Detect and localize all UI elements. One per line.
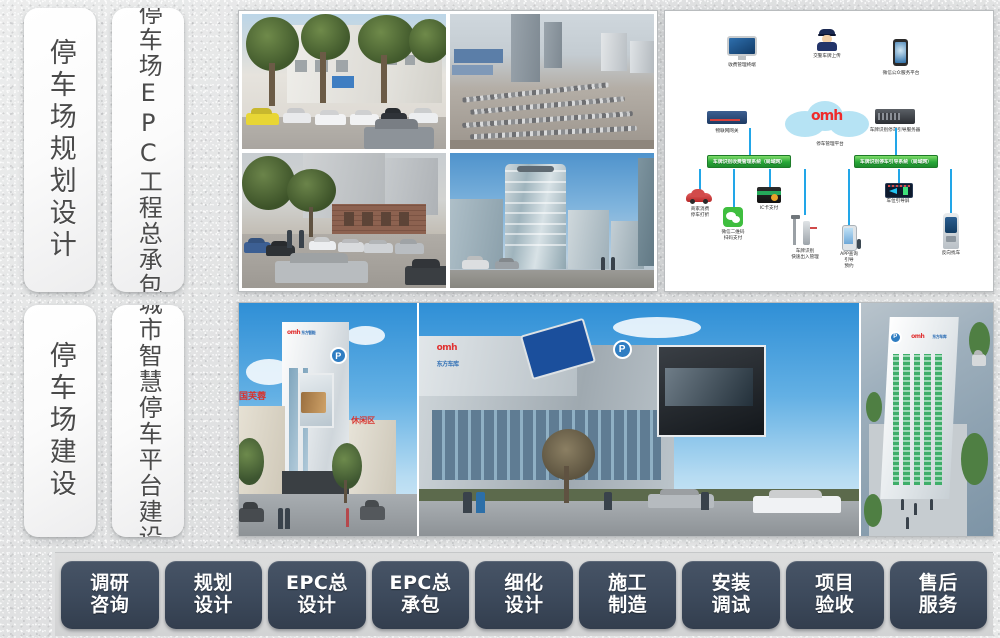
omh-logo: omh: [811, 108, 842, 124]
project-photo-gallery: [238, 10, 658, 292]
sidebar-card-label: 停车场建设: [46, 341, 74, 501]
diagram-label-reverse-car-finding: 反向找车: [942, 251, 960, 257]
diagram-label-wechat-platform: 微信公众服务平台: [883, 71, 920, 77]
rendering-sign-left: 国芙蓉: [239, 389, 266, 402]
process-step-construction-manufacturing[interactable]: 施工 制造: [579, 561, 677, 629]
network-gateway-icon: [707, 111, 747, 124]
sidebar-card-label: 停车场EPC工程总承包: [136, 8, 160, 292]
kiosk-icon: [943, 213, 959, 249]
photo-aerial-parking: [450, 14, 654, 149]
smartphone-icon: [893, 39, 908, 66]
process-step-planning-design[interactable]: 规划 设计: [165, 561, 263, 629]
sidebar-card-smart-parking-platform[interactable]: 城市智慧停车平台建设: [112, 305, 184, 537]
sidebar-card-label: 城市智慧停车平台建设: [136, 305, 160, 537]
diagram-banner-anpr-charging-system: 车牌识别收费管理系统（局域网）: [707, 155, 791, 168]
process-step-epc-contracting[interactable]: EPC总 承包: [372, 561, 470, 629]
diagram-label-charge-terminal: 收费管理终端: [728, 63, 756, 69]
rendering-brand-sub: 东方车库: [437, 359, 459, 368]
process-step-detailed-design[interactable]: 细化 设计: [475, 561, 573, 629]
diagram-label-traffic-police: 交警车牌上传: [813, 54, 841, 60]
cloud-platform-icon: omh: [785, 101, 873, 141]
wechat-icon: [723, 207, 743, 227]
diagram-label-app-query-guide: APP查询 引导 预约: [840, 252, 858, 271]
process-step-epc-design[interactable]: EPC总 设计: [268, 561, 366, 629]
diagram-label-ic-card-pay: IC卡支付: [760, 206, 778, 212]
rendering-brand-omh: omh: [911, 333, 924, 340]
server-icon: [875, 109, 915, 124]
sidebar-card-parking-epc-contracting[interactable]: 停车场EPC工程总承包: [112, 8, 184, 292]
process-step-installation-commissioning[interactable]: 安装 调试: [682, 561, 780, 629]
rendering-brand-omh: omh: [437, 343, 457, 353]
rendering-brand-sub: 东方智能: [301, 330, 315, 336]
rendering-sign-right: 休闲区: [351, 415, 375, 426]
process-step-after-sales-service[interactable]: 售后 服务: [890, 561, 988, 629]
diagram-label-iot-gateway: 物联网网关: [716, 129, 739, 135]
architectural-renderings: omh 东方智能 P 国芙蓉 休闲区 omh 东方车库 P: [238, 302, 994, 537]
rendering-aerial-tower: P omh 东方车库: [861, 303, 993, 536]
police-officer-icon: [817, 29, 837, 51]
sidebar-card-parking-construction[interactable]: 停车场建设: [24, 305, 96, 537]
photo-lot-brick-building: [242, 153, 446, 288]
process-step-survey-consulting[interactable]: 调研 咨询: [61, 561, 159, 629]
parking-badge-icon: P: [613, 340, 632, 359]
sidebar-card-parking-planning-design[interactable]: 停车场规划设计: [24, 8, 96, 292]
rendering-street-tower: omh 东方智能 P 国芙蓉 休闲区: [239, 303, 417, 536]
parking-badge-icon: P: [330, 347, 347, 364]
smart-parking-system-architecture: 收费管理终端 交警车牌上传 微信公众服务平台 物联网网关 车牌识别停车引导服务器…: [664, 10, 994, 292]
diagram-label-merchant-discount: 商家消费 停车打折: [691, 207, 709, 219]
ic-card-icon: [757, 187, 781, 203]
rendering-brand-sub: 东方车库: [932, 334, 946, 340]
diagram-label-cloud-platform: 停车管理平台: [816, 142, 844, 148]
diagram-label-space-guidance-screen: 车位引导屏: [887, 199, 910, 205]
barrier-gate-icon: [791, 215, 817, 245]
project-process-steps: 调研 咨询 规划 设计 EPC总 设计 EPC总 承包 细化 设计 施工 制造 …: [55, 552, 993, 636]
rendering-brand-omh: omh: [287, 329, 300, 336]
parking-badge-icon: P: [889, 331, 902, 344]
rendering-garage-front: omh 东方车库 P: [419, 303, 859, 536]
process-step-project-acceptance[interactable]: 项目 验收: [786, 561, 884, 629]
photo-parking-lot-trees: [242, 14, 446, 149]
diagram-banner-anpr-guidance-system: 车牌识别停车引导系统（局域网）: [854, 155, 938, 168]
diagram-label-wechat-qr-pay: 微信二维码 扫码支付: [722, 230, 745, 242]
red-car-icon: [686, 189, 712, 204]
sidebar-card-label: 停车场规划设计: [46, 38, 74, 262]
diagram-label-anpr-fast-access: 车牌识别 快速出入管理: [791, 249, 819, 261]
led-display-icon: [885, 183, 913, 198]
mobile-app-icon: [842, 225, 857, 251]
monitor-icon: [727, 36, 757, 60]
photo-glass-tower: [450, 153, 654, 288]
